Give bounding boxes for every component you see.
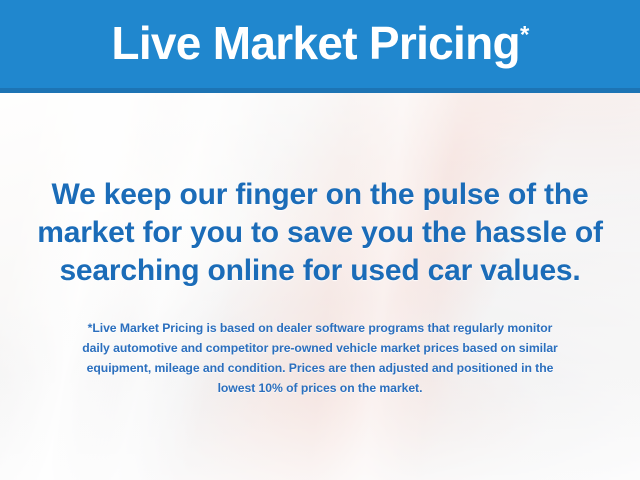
disclaimer-line-1: *Live Market Pricing is based on dealer …	[18, 318, 622, 338]
page-title-text: Live Market Pricing	[111, 17, 520, 69]
page-title-footnote-marker: *	[520, 22, 529, 49]
live-market-pricing-slide: Live Market Pricing* We keep our finger …	[0, 0, 640, 480]
disclaimer-line-3: equipment, mileage and condition. Prices…	[18, 358, 622, 378]
disclaimer-line-4: lowest 10% of prices on the market.	[18, 378, 622, 398]
page-title: Live Market Pricing*	[111, 20, 528, 68]
headline: We keep our finger on the pulse of the m…	[0, 176, 640, 290]
header-banner: Live Market Pricing*	[0, 0, 640, 93]
headline-line-1: We keep our finger on the pulse of the	[0, 176, 640, 214]
disclaimer: *Live Market Pricing is based on dealer …	[18, 318, 622, 398]
headline-line-3: searching online for used car values.	[0, 252, 640, 290]
headline-line-2: market for you to save you the hassle of	[0, 214, 640, 252]
disclaimer-line-2: daily automotive and competitor pre-owne…	[18, 338, 622, 358]
